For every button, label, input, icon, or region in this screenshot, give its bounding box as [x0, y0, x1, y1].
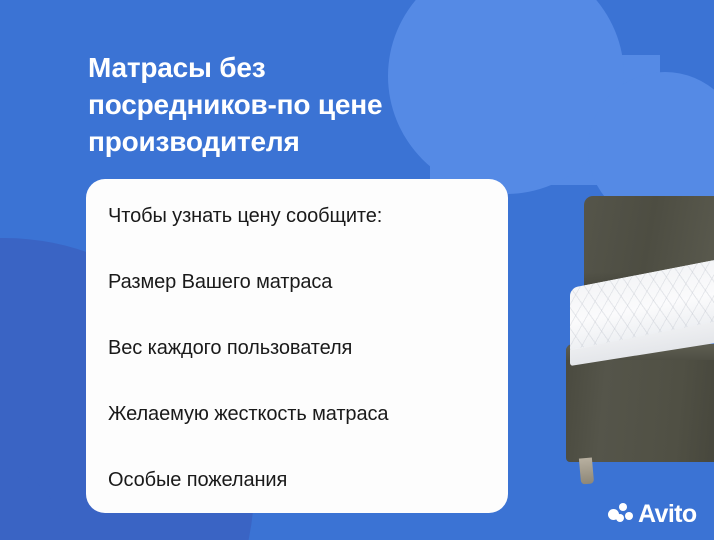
avito-dot-right: [625, 512, 633, 520]
avito-logo-icon: [608, 503, 633, 527]
avito-dot-bottom: [616, 514, 624, 522]
bed-product-image: [556, 196, 714, 476]
avito-dot-top: [619, 503, 627, 511]
info-card-line-5: Особые пожелания: [108, 469, 486, 491]
page-title: Матрасы без посредников-по цене производ…: [88, 50, 508, 161]
info-card: Чтобы узнать цену сообщите: Размер Вашег…: [86, 179, 508, 513]
bed-leg: [579, 457, 594, 484]
info-card-line-2: Размер Вашего матраса: [108, 271, 486, 293]
avito-watermark: Avito: [608, 502, 697, 527]
info-card-line-1: Чтобы узнать цену сообщите:: [108, 205, 486, 227]
info-card-line-3: Вес каждого пользователя: [108, 337, 486, 359]
dark-circle-corner: [0, 466, 64, 540]
avito-ad-banner: Матрасы без посредников-по цене производ…: [0, 0, 714, 540]
avito-wordmark: Avito: [638, 502, 697, 527]
info-card-line-4: Желаемую жесткость матраса: [108, 403, 486, 425]
